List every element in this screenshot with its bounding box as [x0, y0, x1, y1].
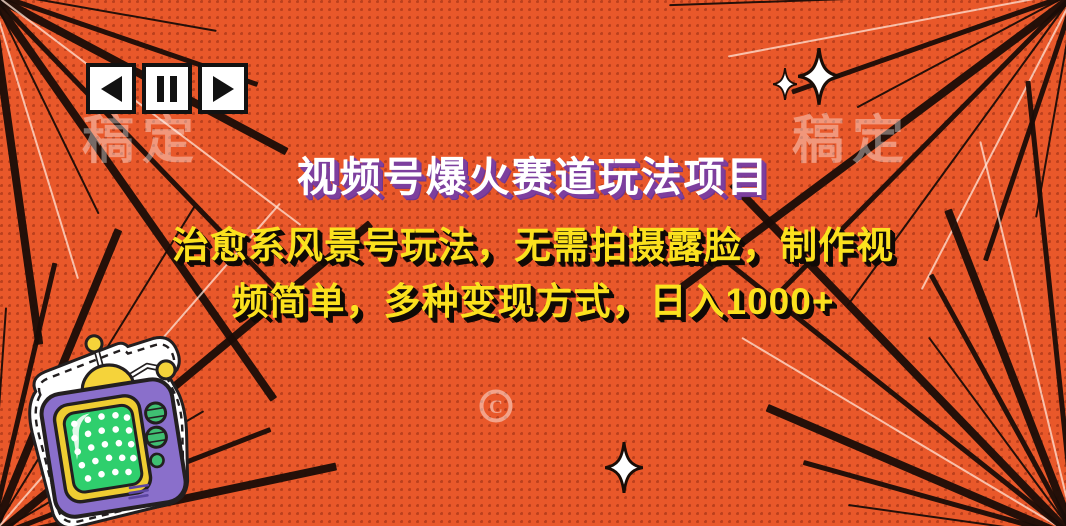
previous-triangle-icon — [101, 76, 122, 102]
play-triangle-icon — [213, 76, 234, 102]
speed-line — [0, 0, 217, 32]
speed-line — [791, 0, 1066, 95]
copyright-watermark-icon: C — [478, 388, 514, 429]
svg-text:C: C — [489, 397, 503, 418]
previous-button[interactable] — [86, 63, 136, 114]
speed-line — [803, 460, 1066, 526]
body-copy-line-1: 治愈系风景号玩法，无需拍摄露脸，制作视 — [0, 218, 1066, 274]
speed-line — [741, 337, 1066, 526]
sparkle-star-icon-3 — [605, 442, 643, 498]
page-title: 视频号爆火赛道玩法项目 — [0, 143, 1066, 203]
speed-line — [728, 0, 1066, 58]
speed-line — [857, 0, 1066, 108]
body-copy: 治愈系风景号玩法，无需拍摄露脸，制作视 频简单，多种变现方式，日入1000+ — [0, 218, 1066, 330]
speed-line — [766, 404, 1066, 526]
pause-button[interactable] — [142, 63, 192, 114]
pause-bars-icon — [157, 76, 177, 102]
sparkle-star-icon-1 — [798, 48, 840, 110]
playback-controls[interactable] — [86, 63, 248, 114]
body-copy-line-2: 频简单，多种变现方式，日入1000+ — [0, 274, 1066, 330]
speed-line — [928, 337, 1066, 526]
sparkle-star-icon-2 — [773, 68, 797, 105]
retro-tv-illustration — [18, 328, 208, 526]
speed-line — [669, 0, 1066, 6]
play-button[interactable] — [198, 63, 248, 114]
poster-canvas: 稿定稿定 C 视频号爆火赛道玩法项目 治愈系风景号玩法，无需拍摄露脸，制作视 频… — [0, 0, 1066, 526]
speed-line — [0, 307, 7, 526]
speed-line — [848, 504, 1066, 526]
